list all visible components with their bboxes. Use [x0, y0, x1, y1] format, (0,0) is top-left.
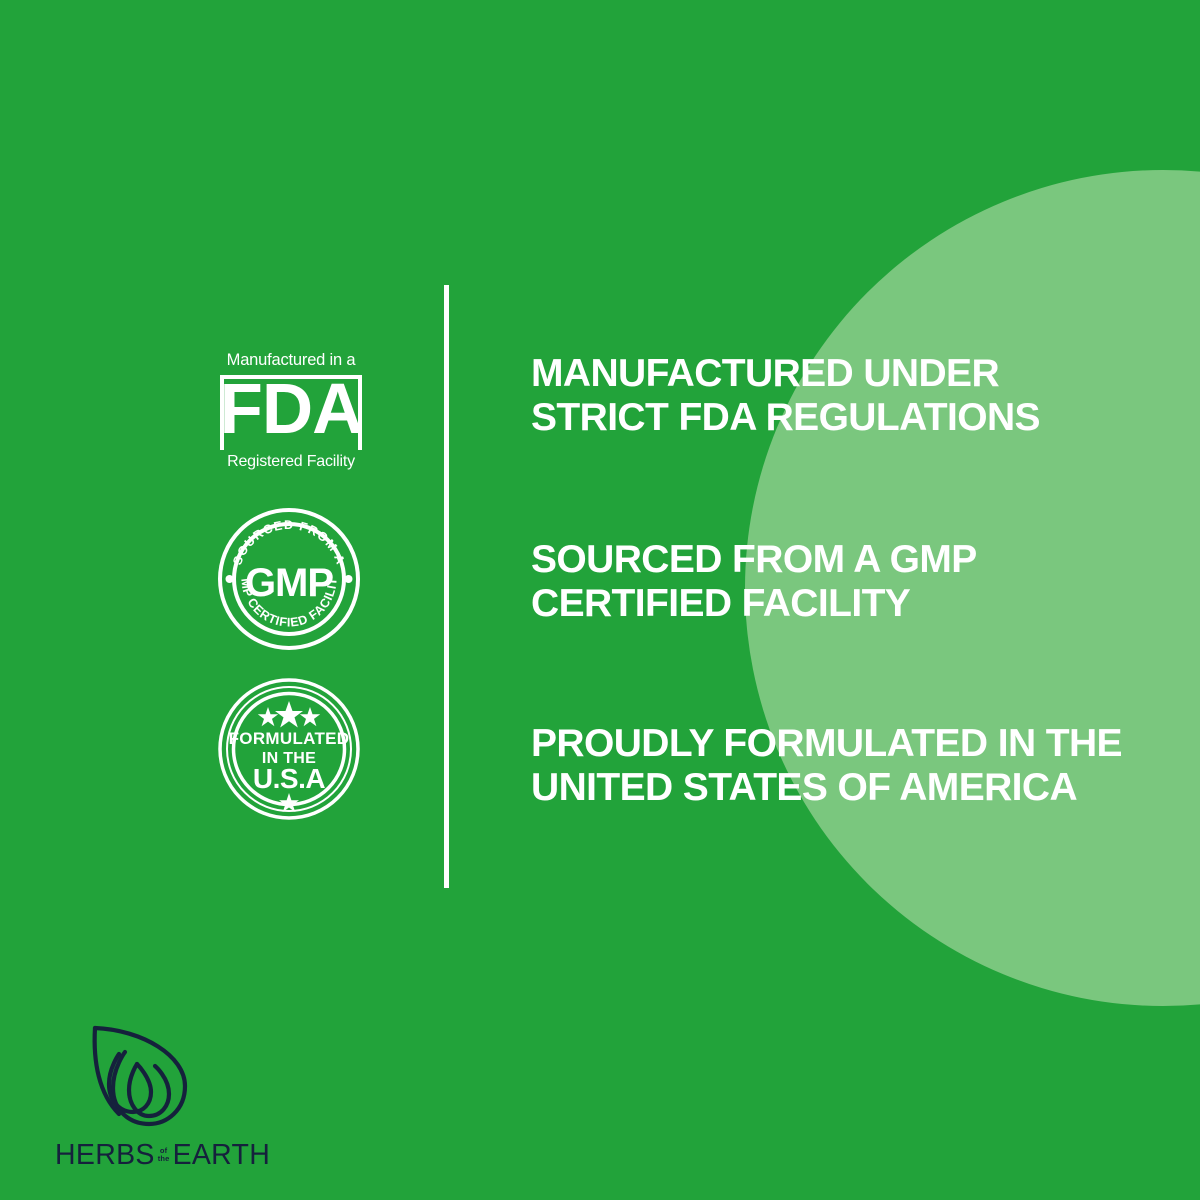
- brand-word-herbs: HERBS: [55, 1141, 155, 1170]
- herbs-of-the-earth-leaf-logo: [73, 1022, 203, 1130]
- usa-line-3: U.S.A: [253, 763, 325, 794]
- fda-bottom-label: Registered Facility: [227, 454, 355, 470]
- claim-gmp: SOURCED FROM A GMP CERTIFIED FACILITY: [531, 538, 1131, 626]
- gmp-main-label: GMP: [245, 561, 333, 605]
- fda-main-label: FDA: [206, 374, 376, 445]
- usa-line-1: FORMULATED: [229, 729, 350, 748]
- brand-small-the: the: [158, 1155, 170, 1164]
- claim-usa: PROUDLY FORMULATED IN THE UNITED STATES …: [531, 722, 1131, 810]
- claim-fda: MANUFACTURED UNDER STRICT FDA REGULATION…: [531, 352, 1131, 440]
- usa-top-stars-icon: [258, 701, 320, 728]
- fda-registered-facility-badge: Manufactured in a FDA Registered Facilit…: [206, 352, 376, 480]
- formulated-in-the-usa-seal: FORMULATED IN THE U.S.A: [218, 678, 360, 820]
- brand-logo: HERBS of the EARTH: [55, 1022, 265, 1170]
- vertical-divider: [444, 285, 449, 888]
- gmp-certified-facility-seal: SOURCED FROM A GMP CERTIFIED FACILITY GM…: [218, 508, 360, 650]
- promo-canvas: Manufactured in a FDA Registered Facilit…: [0, 0, 1200, 1200]
- brand-wordmark: HERBS of the EARTH: [55, 1141, 265, 1170]
- fda-top-label: Manufactured in a: [206, 352, 376, 369]
- claims-column: MANUFACTURED UNDER STRICT FDA REGULATION…: [531, 352, 1131, 810]
- fda-bottom-backdrop: Registered Facility: [214, 450, 368, 474]
- trust-badge-column: Manufactured in a FDA Registered Facilit…: [196, 352, 386, 820]
- brand-small-words: of the: [158, 1147, 170, 1164]
- brand-word-earth: EARTH: [173, 1141, 271, 1170]
